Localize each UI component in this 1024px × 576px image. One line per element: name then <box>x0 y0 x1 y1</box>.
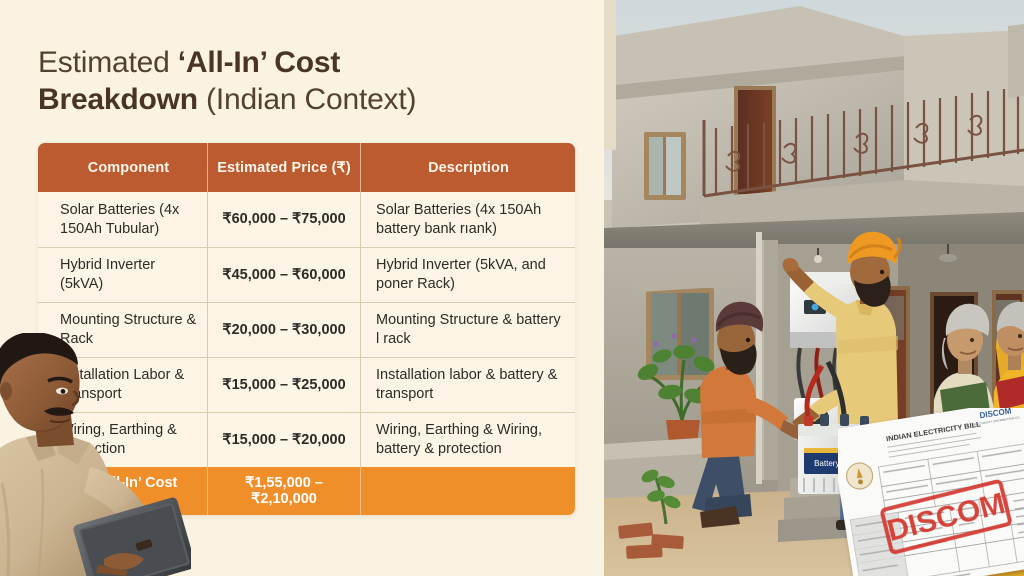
row-description: Mounting Structure & battery l rack <box>360 302 575 357</box>
table-row: Hybrid Inverter (5kVA) ₹45,000 – ₹60,000… <box>38 247 575 302</box>
row-description: Hybrid Inverter (5kVA, and poner Rack) <box>360 247 575 302</box>
man-with-tablet-photo <box>0 333 191 576</box>
row-description: Wiring, Earthing & Wiring, battery & pro… <box>360 412 575 467</box>
table-header-price: Estimated Price (₹) <box>207 143 360 192</box>
page-title-line-2-strong: Breakdown <box>38 83 198 116</box>
row-description: Solar Batteries (4x 150Ah battery bank r… <box>360 192 575 247</box>
row-price: ₹60,000 – ₹75,000 <box>207 192 360 247</box>
row-price: ₹20,000 – ₹30,000 <box>207 302 360 357</box>
page-title-line-1-regular: Estimated <box>38 46 178 79</box>
row-price: ₹15,000 – ₹20,000 <box>207 412 360 467</box>
table-header-component: Component <box>38 143 207 192</box>
table-header-description: Description <box>360 143 575 192</box>
page-title-line-2-regular: (Indian Context) <box>198 83 416 116</box>
content-panel: Estimated ‘All-In’ Cost Breakdown (India… <box>0 0 604 576</box>
row-component: Hybrid Inverter (5kVA) <box>38 247 207 302</box>
table-row: Solar Batteries (4x 150Ah Tubular) ₹60,0… <box>38 192 575 247</box>
page-title-line-1-strong: ‘All-In’ Cost <box>178 46 340 79</box>
electricity-bill-overlay: INDIAN ELECTRICITY BILL DISCOM ELECTRICI… <box>838 408 1024 576</box>
page-title: Estimated ‘All-In’ Cost Breakdown (India… <box>38 44 578 118</box>
table-header-row: Component Estimated Price (₹) Descriptio… <box>38 143 575 192</box>
row-description: Installation labor & battery & transport <box>360 357 575 412</box>
page-title-line-1: Estimated ‘All-In’ Cost <box>38 44 578 81</box>
row-price: ₹15,000 – ₹25,000 <box>207 357 360 412</box>
row-component: Solar Batteries (4x 150Ah Tubular) <box>38 192 207 247</box>
row-price: ₹45,000 – ₹60,000 <box>207 247 360 302</box>
total-price: ₹1,55,000 – ₹2,10,000 <box>207 467 360 515</box>
total-description <box>360 467 575 515</box>
slide-root: Estimated ‘All-In’ Cost Breakdown (India… <box>0 0 1024 576</box>
page-title-line-2: Breakdown (Indian Context) <box>38 81 578 118</box>
